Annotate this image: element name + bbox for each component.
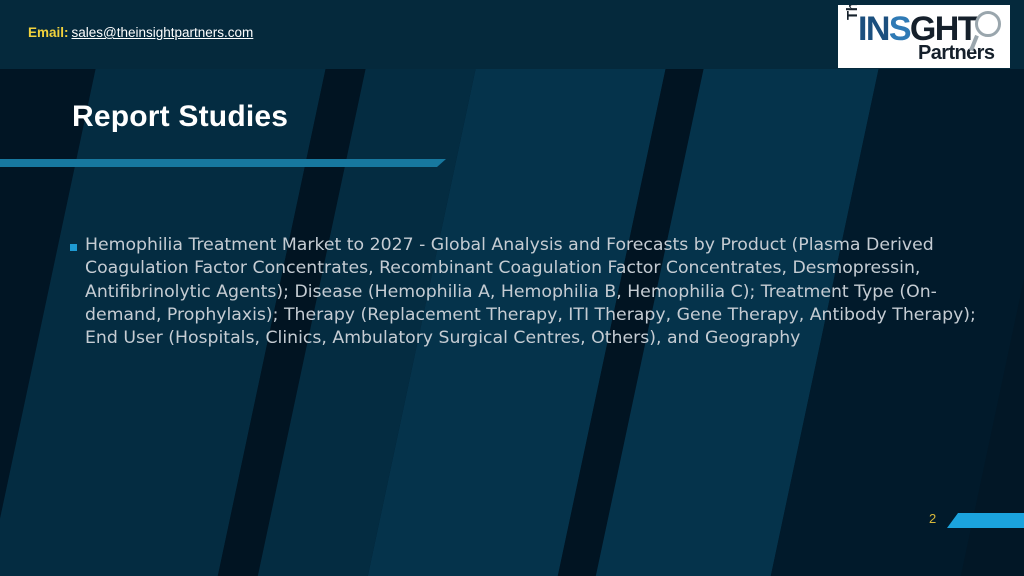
email-link[interactable]: sales@theinsightpartners.com	[72, 25, 254, 40]
page-title: Report Studies	[72, 100, 288, 134]
email-contact-line: Email:sales@theinsightpartners.com	[28, 25, 253, 40]
footer-accent-bar	[947, 513, 1024, 528]
email-label: Email:	[28, 25, 69, 40]
magnifier-icon	[975, 11, 1001, 37]
report-description-text: Hemophilia Treatment Market to 2027 - Gl…	[85, 234, 990, 350]
logo-insight-seg-s: S	[889, 10, 910, 48]
slide-canvas: Email:sales@theinsightpartners.com The I…	[0, 0, 1024, 576]
title-underline-rule	[0, 159, 446, 167]
logo-insight-seg-in: IN	[858, 10, 889, 48]
logo-partners-text: Partners	[918, 43, 994, 63]
list-item: Hemophilia Treatment Market to 2027 - Gl…	[70, 234, 990, 350]
logo-insight-text: INSGHT	[858, 12, 977, 46]
content-block: Hemophilia Treatment Market to 2027 - Gl…	[70, 234, 990, 350]
company-logo[interactable]: The INSGHT Partners	[838, 5, 1010, 68]
square-bullet-icon	[70, 244, 77, 251]
page-number: 2	[929, 511, 936, 526]
